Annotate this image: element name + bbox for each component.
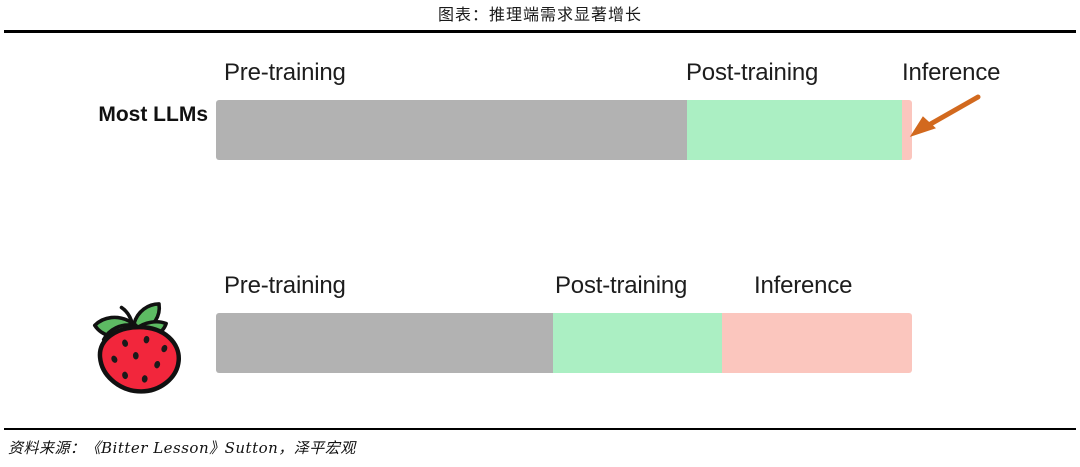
page-title: 图表：推理端需求显著增长 xyxy=(0,4,1080,26)
stacked-bar-strawberry xyxy=(216,313,912,373)
segment-post-training-row1 xyxy=(687,100,902,160)
bar-row-strawberry: Pre-training Post-training Inference xyxy=(0,271,1080,391)
caption-post-training-row2: Post-training xyxy=(555,271,687,301)
stacked-bar-most-llms xyxy=(216,100,912,160)
caption-pre-training-row1: Pre-training xyxy=(224,58,346,88)
caption-post-training-row1: Post-training xyxy=(686,58,818,88)
row-label-most-llms: Most LLMs xyxy=(50,103,208,127)
strawberry-icon xyxy=(68,295,200,395)
footer-divider xyxy=(4,428,1076,430)
inference-callout-arrow-icon xyxy=(890,78,1000,148)
caption-pre-training-row2: Pre-training xyxy=(224,271,346,301)
bar-row-most-llms: Most LLMs Pre-training Post-training Inf… xyxy=(0,58,1080,178)
segment-post-training-row2 xyxy=(553,313,722,373)
segment-pre-training-row1 xyxy=(216,100,687,160)
segment-inference-row2 xyxy=(722,313,912,373)
segment-pre-training-row2 xyxy=(216,313,553,373)
plot-area: Most LLMs Pre-training Post-training Inf… xyxy=(0,33,1080,427)
chart-figure: 图表：推理端需求显著增长 Most LLMs Pre-training Post… xyxy=(0,0,1080,467)
caption-inference-row2: Inference xyxy=(754,271,852,301)
source-note: 资料来源：《Bitter Lesson》Sutton，泽平宏观 xyxy=(8,437,356,458)
